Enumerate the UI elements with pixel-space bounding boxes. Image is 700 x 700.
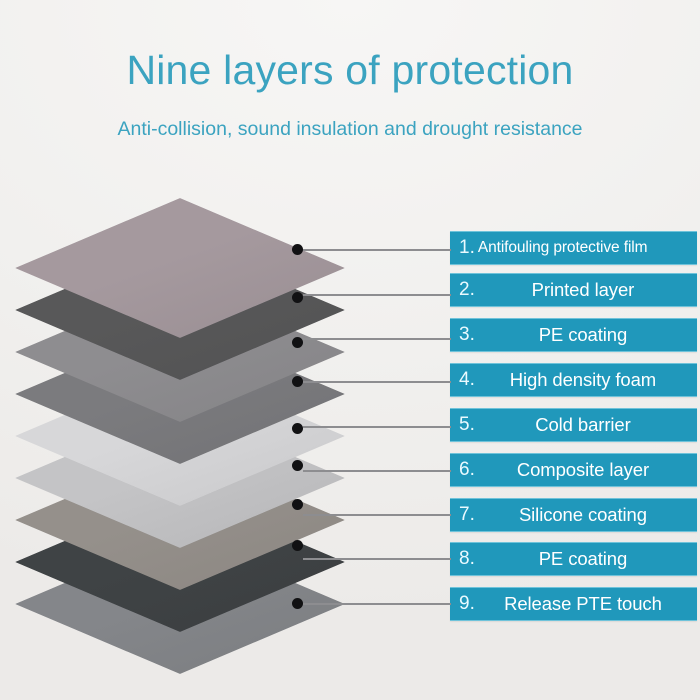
layer-marker-dot-4 — [292, 376, 303, 387]
layer-marker-dot-7 — [292, 499, 303, 510]
layer-label-text: Composite layer — [475, 459, 697, 481]
leader-line-9 — [303, 603, 451, 605]
layer-label-text: PE coating — [475, 548, 697, 570]
layer-label-number: 2. — [450, 279, 475, 301]
leader-line-5 — [303, 426, 451, 428]
layer-label-box-5[interactable]: 5.Cold barrier — [450, 408, 697, 442]
leader-line-3 — [303, 338, 451, 340]
layer-label-number: 6. — [450, 459, 475, 481]
layer-marker-dot-6 — [292, 460, 303, 471]
leader-line-8 — [303, 558, 451, 560]
layer-label-number: 1. — [450, 237, 476, 259]
layer-marker-dot-1 — [292, 244, 303, 255]
layer-label-text: Antifouling protective film — [476, 239, 697, 257]
layer-label-box-9[interactable]: 9.Release PTE touch — [450, 587, 697, 621]
layer-label-text: Printed layer — [475, 279, 697, 301]
leader-line-4 — [303, 381, 451, 383]
layer-label-box-3[interactable]: 3.PE coating — [450, 318, 697, 352]
layer-marker-dot-5 — [292, 423, 303, 434]
layer-label-box-4[interactable]: 4.High density foam — [450, 363, 697, 397]
layer-label-box-7[interactable]: 7.Silicone coating — [450, 498, 697, 532]
layer-marker-dot-2 — [292, 292, 303, 303]
layer-label-box-2[interactable]: 2.Printed layer — [450, 273, 697, 307]
layer-label-text: Cold barrier — [475, 414, 697, 436]
leader-line-1 — [303, 249, 451, 251]
layer-label-number: 5. — [450, 414, 475, 436]
leader-line-6 — [303, 470, 451, 472]
infographic-root: Nine layers of protection Anti-collision… — [0, 0, 700, 700]
layer-label-number: 9. — [450, 593, 475, 615]
layer-label-box-8[interactable]: 8.PE coating — [450, 542, 697, 576]
layer-label-text: PE coating — [475, 324, 697, 346]
layer-label-text: Silicone coating — [475, 504, 697, 526]
leader-line-7 — [303, 514, 451, 516]
layer-label-number: 7. — [450, 504, 475, 526]
layer-marker-dot-9 — [292, 598, 303, 609]
layer-label-text: High density foam — [475, 369, 697, 391]
layer-stack-diagram — [0, 0, 460, 700]
layer-marker-dot-3 — [292, 337, 303, 348]
layer-label-number: 8. — [450, 548, 475, 570]
layer-label-text: Release PTE touch — [475, 593, 697, 615]
layer-marker-dot-8 — [292, 540, 303, 551]
layer-label-number: 4. — [450, 369, 475, 391]
layer-label-number: 3. — [450, 324, 475, 346]
layer-label-list: 1.Antifouling protective film2.Printed l… — [450, 0, 700, 700]
layer-label-box-6[interactable]: 6.Composite layer — [450, 453, 697, 487]
leader-line-2 — [303, 294, 451, 296]
layer-label-box-1[interactable]: 1.Antifouling protective film — [450, 231, 697, 265]
